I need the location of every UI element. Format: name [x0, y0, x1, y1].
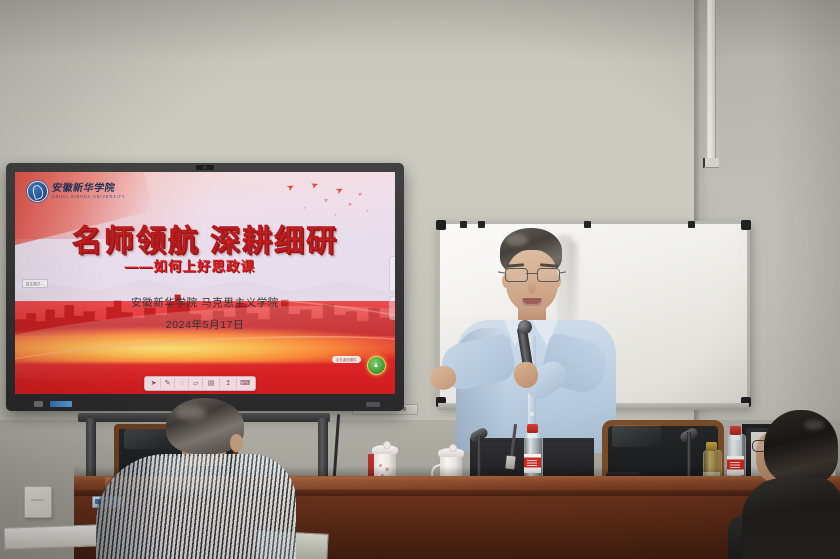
- tea-jar-cap: [706, 442, 717, 451]
- whiteboard-corner-clip: [741, 220, 751, 230]
- cable-conduit-cap: [703, 158, 719, 168]
- audience-shoulder-highlight: [150, 456, 228, 496]
- page-tool-icon[interactable]: ▤: [203, 378, 220, 389]
- return-home-badge-icon[interactable]: ▲: [367, 356, 386, 375]
- university-name-cn: 安徽新华学院: [51, 184, 126, 194]
- bird-icon: ➤: [357, 191, 364, 199]
- bottle-cap: [730, 426, 741, 435]
- slide-annotation-toolbar[interactable]: ➤✎◌▱▤↥⌨: [144, 376, 256, 391]
- glasses-bridge: [526, 273, 537, 274]
- university-logo-text: 安徽新华学院 ANHUI XINHUA UNIVERSITY: [52, 184, 125, 199]
- whiteboard-magnet-clip: [584, 221, 591, 228]
- audience-member-right: [742, 404, 840, 559]
- shirt-button: [530, 412, 534, 416]
- cable-conduit: [707, 0, 716, 165]
- glasses-temple: [498, 271, 505, 274]
- status-indicator: [34, 401, 43, 407]
- presentation-slide[interactable]: ➤➤➤➤➤➤➤➤➤ 安徽新华学院 ANHUI XINHUA UNIVERSITY…: [15, 172, 395, 394]
- chair-highlight: [612, 425, 661, 447]
- bird-icon: ➤: [302, 205, 307, 210]
- speaker-nose: [528, 280, 536, 294]
- return-badge-tooltip: 点击返回课件: [332, 356, 361, 363]
- whiteboard-magnet-clip: [478, 221, 485, 228]
- screen-edge-handle[interactable]: [389, 256, 395, 292]
- bird-icon: ➤: [323, 198, 330, 206]
- audience-notebook: [4, 524, 99, 549]
- interactive-flat-panel[interactable]: ➤➤➤➤➤➤➤➤➤ 安徽新华学院 ANHUI XINHUA UNIVERSITY…: [6, 163, 404, 411]
- whiteboard-magnet-clip: [688, 221, 695, 228]
- bird-icon: ➤: [285, 182, 296, 194]
- annotation-mode-label: 批注模式…: [22, 279, 48, 288]
- slide-title: 名师领航 深耕细研: [15, 216, 395, 260]
- glasses-lens-right: [537, 268, 560, 282]
- bird-icon: ➤: [347, 201, 354, 208]
- slide-organization: 安徽新华学院 马克思主义学院: [15, 295, 395, 310]
- audience-member-foreground-left: [96, 398, 306, 559]
- bird-icon: ➤: [309, 180, 319, 191]
- slide-subtitle: ——如何上好思政课: [15, 255, 395, 275]
- glasses-lens-left: [505, 268, 528, 282]
- pen-tool-icon[interactable]: ✎: [161, 378, 175, 389]
- ir-receiver: [366, 402, 380, 407]
- panel-camera-icon: [196, 165, 214, 170]
- pointer-tool-icon[interactable]: ➤: [147, 378, 161, 389]
- slide-date: 2024年5月17日: [15, 317, 395, 332]
- keyboard-tool-icon[interactable]: ⌨: [237, 378, 253, 389]
- glasses-temple: [559, 271, 566, 274]
- university-logo: 安徽新华学院 ANHUI XINHUA UNIVERSITY: [27, 181, 125, 202]
- teacup-knob: [449, 444, 457, 452]
- teacup-knob: [383, 441, 391, 449]
- audience-hair: [764, 410, 838, 484]
- university-emblem-icon: [27, 181, 48, 202]
- eraser-tool-icon[interactable]: ◌: [175, 378, 189, 389]
- light-switch[interactable]: [24, 486, 52, 518]
- bird-icon: ➤: [335, 185, 346, 196]
- whiteboard-magnet-clip: [460, 221, 467, 228]
- screen-edge-handle-secondary[interactable]: [389, 296, 395, 320]
- share-tool-icon[interactable]: ↥: [220, 378, 237, 389]
- bird-icon: ➤: [365, 209, 370, 214]
- university-name-en: ANHUI XINHUA UNIVERSITY: [52, 195, 125, 199]
- audience-ear: [230, 434, 243, 452]
- power-indicator: [50, 401, 72, 407]
- audience-torso: [742, 478, 840, 559]
- lecture-hall-photo: ➤➤➤➤➤➤➤➤➤ 安徽新华学院 ANHUI XINHUA UNIVERSITY…: [0, 0, 840, 559]
- shape-tool-icon[interactable]: ▱: [189, 378, 203, 389]
- bottle-cap: [527, 424, 538, 433]
